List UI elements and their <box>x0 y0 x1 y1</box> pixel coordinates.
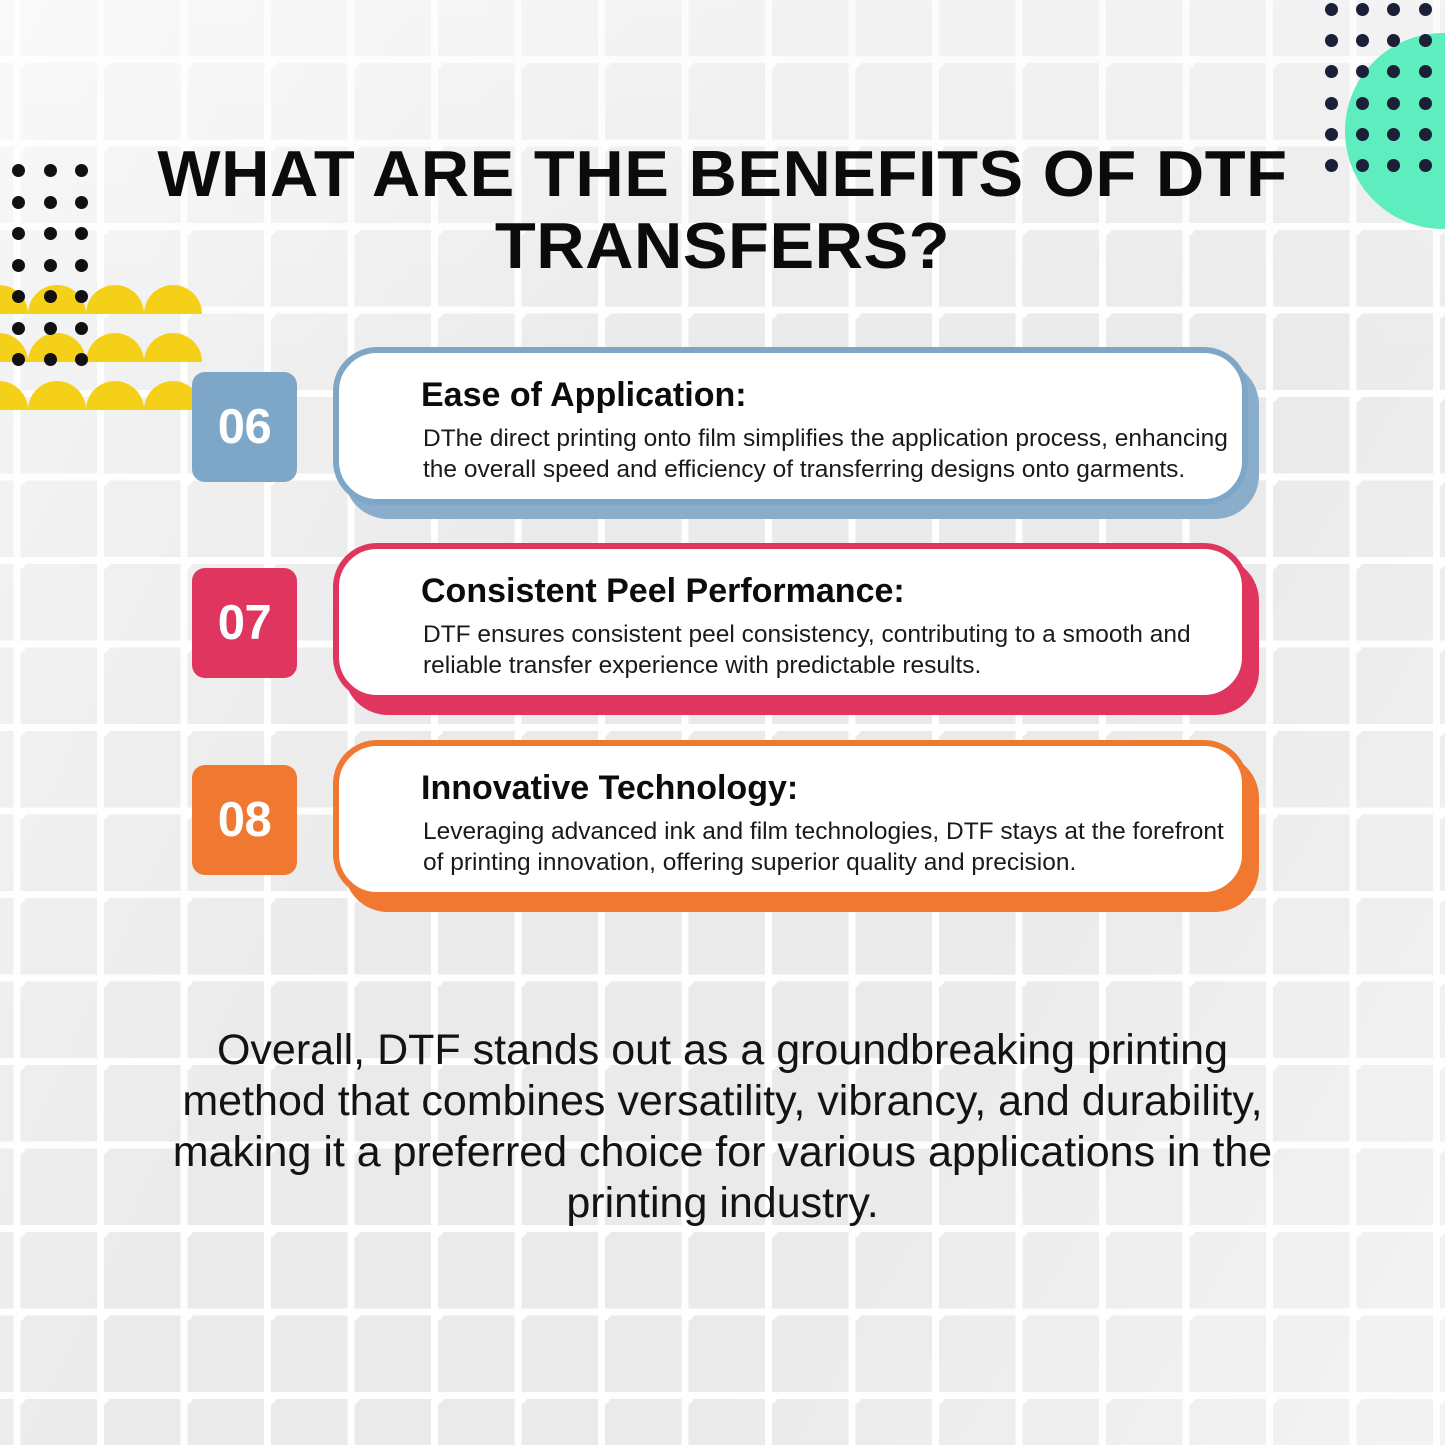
decorative-dot <box>75 290 88 303</box>
benefit-number-badge: 07 <box>192 568 297 678</box>
decorative-dot <box>44 290 57 303</box>
card-surface: Ease of Application: DThe direct printin… <box>333 347 1248 505</box>
decorative-dot <box>1419 34 1432 47</box>
benefit-card-body-wrap: Consistent Peel Performance: DTF ensures… <box>333 543 1248 715</box>
decorative-dot <box>1325 159 1338 172</box>
summary-paragraph: Overall, DTF stands out as a groundbreak… <box>165 1025 1280 1229</box>
decorative-dot <box>75 164 88 177</box>
decorative-dot <box>75 227 88 240</box>
decorative-dot <box>12 259 25 272</box>
decorative-dot <box>1419 3 1432 16</box>
decorative-dot <box>12 196 25 209</box>
decorative-dot <box>75 196 88 209</box>
decorative-dot <box>1387 97 1400 110</box>
benefit-number-badge: 06 <box>192 372 297 482</box>
decorative-dot <box>75 322 88 335</box>
decorative-dot <box>1419 65 1432 78</box>
decorative-dot <box>12 290 25 303</box>
benefit-card-body-wrap: Ease of Application: DThe direct printin… <box>333 347 1248 519</box>
card-description: Leveraging advanced ink and film technol… <box>423 816 1238 878</box>
decorative-dot <box>44 164 57 177</box>
decorative-dot <box>75 259 88 272</box>
card-surface: Consistent Peel Performance: DTF ensures… <box>333 543 1248 701</box>
infographic-poster: WHAT ARE THE BENEFITS OF DTF TRANSFERS? … <box>0 0 1445 1445</box>
decorative-dot <box>1356 97 1369 110</box>
decorative-dot <box>1325 97 1338 110</box>
card-description: DTF ensures consistent peel consistency,… <box>423 619 1238 681</box>
decorative-dot <box>44 259 57 272</box>
card-heading: Consistent Peel Performance: <box>421 571 905 611</box>
decorative-dot <box>44 227 57 240</box>
benefit-card-06: 06 Ease of Application: DThe direct prin… <box>0 347 1445 527</box>
decorative-dot <box>44 196 57 209</box>
benefit-card-08: 08 Innovative Technology: Leveraging adv… <box>0 740 1445 920</box>
decorative-dot <box>12 322 25 335</box>
benefit-number-badge: 08 <box>192 765 297 875</box>
card-description: DThe direct printing onto film simplifie… <box>423 423 1238 485</box>
card-surface: Innovative Technology: Leveraging advanc… <box>333 740 1248 898</box>
benefit-card-body-wrap: Innovative Technology: Leveraging advanc… <box>333 740 1248 912</box>
page-title-line-1: WHAT ARE THE BENEFITS OF DTF <box>133 138 1312 210</box>
card-heading: Innovative Technology: <box>421 768 798 808</box>
card-heading: Ease of Application: <box>421 375 747 415</box>
decorative-dot <box>1419 159 1432 172</box>
page-title: WHAT ARE THE BENEFITS OF DTF TRANSFERS? <box>133 138 1312 282</box>
decorative-dot <box>1325 128 1338 141</box>
decorative-dot <box>1356 128 1369 141</box>
decorative-dot <box>1419 97 1432 110</box>
decorative-dot <box>1419 128 1432 141</box>
decorative-dot <box>1325 3 1338 16</box>
decorative-dot <box>12 164 25 177</box>
decorative-dot <box>12 227 25 240</box>
benefit-card-07: 07 Consistent Peel Performance: DTF ensu… <box>0 543 1445 723</box>
decorative-dot <box>44 322 57 335</box>
page-title-line-2: TRANSFERS? <box>133 210 1312 282</box>
